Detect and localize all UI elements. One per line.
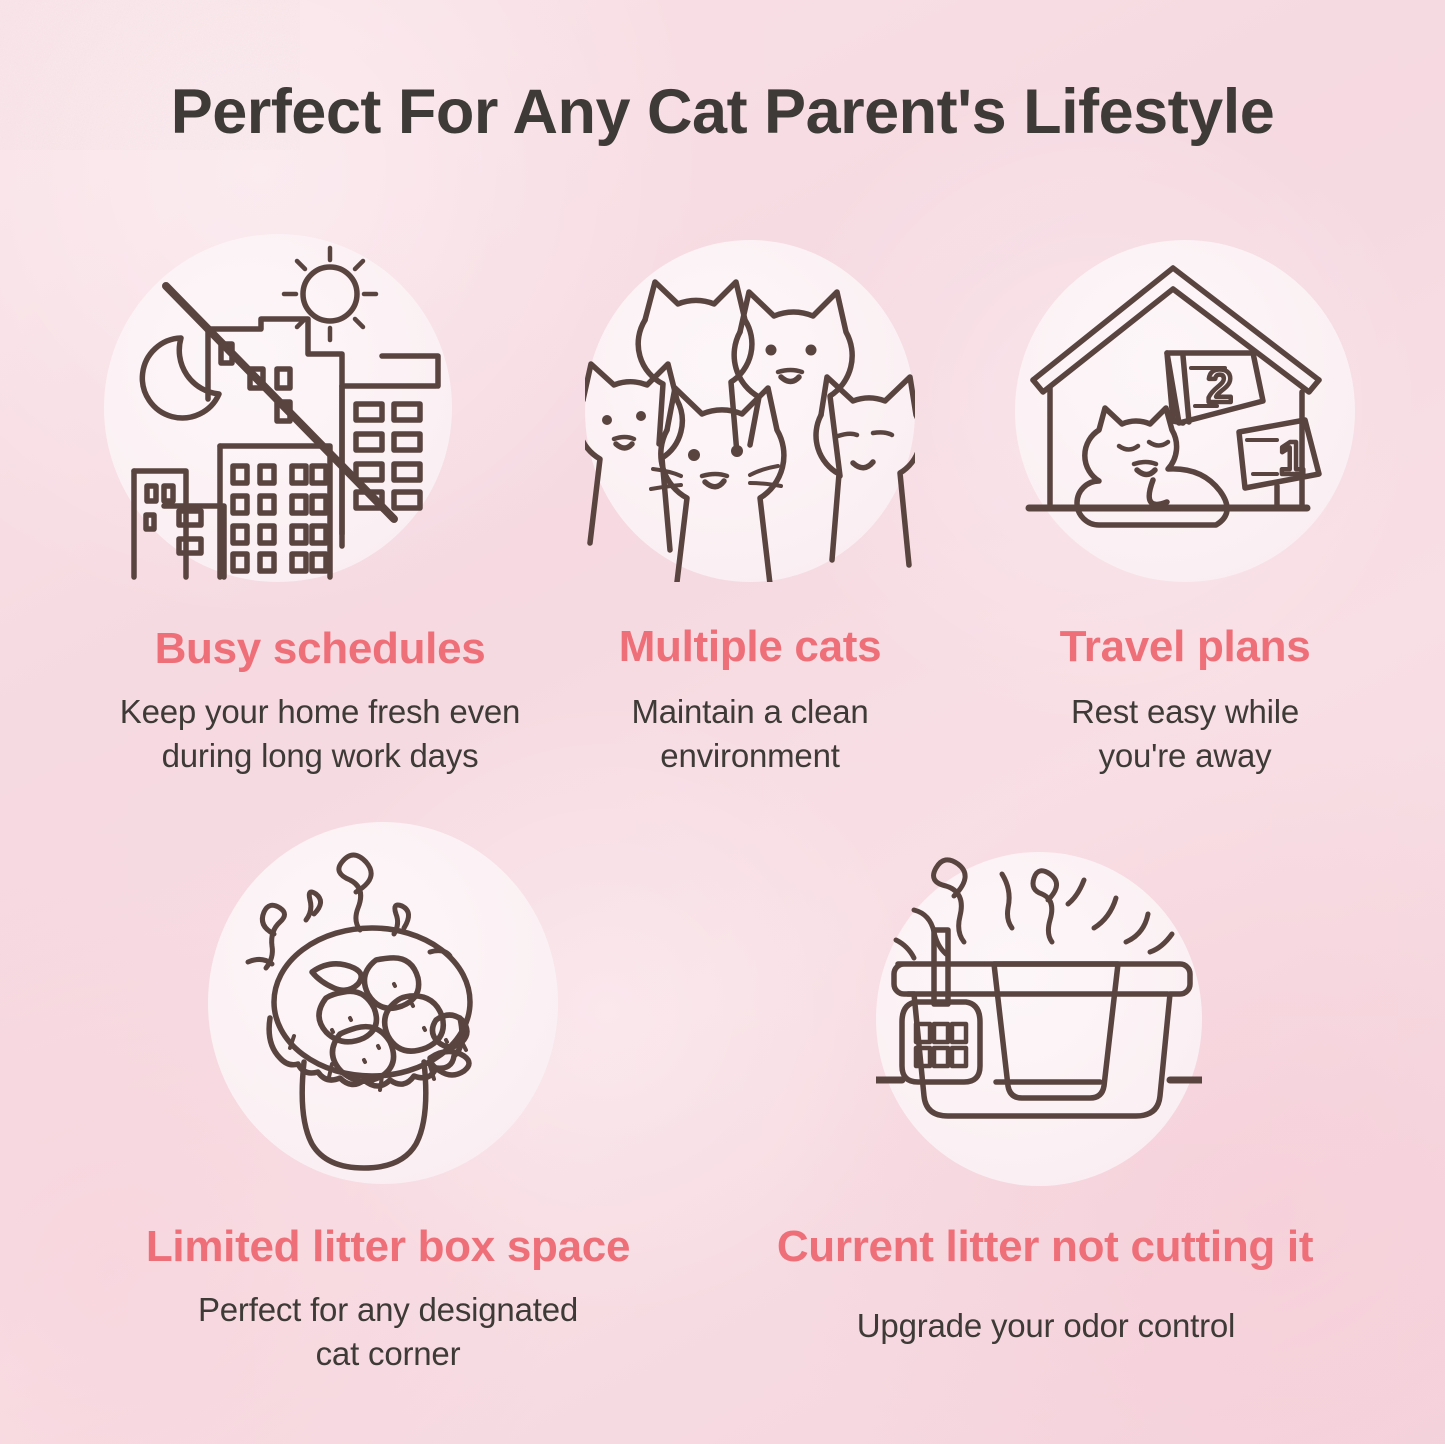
- card-subtext-limited-litter-box-space: Perfect for any designated cat corner: [98, 1288, 678, 1376]
- day-night-cityscape-icon: [104, 234, 452, 582]
- calendar-number-1: 1: [1279, 432, 1305, 484]
- card-subtext-travel-plans: Rest easy while you're away: [1010, 690, 1360, 778]
- card-subtext-line: environment: [540, 734, 960, 778]
- card-heading-travel-plans: Travel plans: [995, 622, 1375, 672]
- card-subtext-line: Perfect for any designated: [98, 1288, 678, 1332]
- card-subtext-line: cat corner: [98, 1332, 678, 1376]
- card-heading-multiple-cats: Multiple cats: [500, 622, 1000, 672]
- litter-pail-with-clumps-icon: [208, 822, 558, 1184]
- card-subtext-line: Maintain a clean: [540, 690, 960, 734]
- card-subtext-line: during long work days: [30, 734, 610, 778]
- card-subtext-busy-schedules: Keep your home fresh even during long wo…: [30, 690, 610, 778]
- card-subtext-current-litter-not-cutting-it: Upgrade your odor control: [752, 1304, 1340, 1348]
- litter-box-with-scoop-icon: [876, 852, 1202, 1186]
- card-heading-current-litter-not-cutting-it: Current litter not cutting it: [722, 1222, 1368, 1272]
- house-with-sleeping-cat-icon: 2 1: [1015, 240, 1355, 582]
- card-subtext-line: Rest easy while: [1010, 690, 1360, 734]
- group-of-cats-icon: [585, 240, 915, 582]
- calendar-number-2: 2: [1207, 360, 1233, 412]
- card-heading-limited-litter-box-space: Limited litter box space: [68, 1222, 708, 1272]
- card-subtext-line: Keep your home fresh even: [30, 690, 610, 734]
- card-subtext-line: Upgrade your odor control: [752, 1304, 1340, 1348]
- card-subtext-multiple-cats: Maintain a clean environment: [540, 690, 960, 778]
- page-title: Perfect For Any Cat Parent's Lifestyle: [0, 76, 1445, 148]
- card-subtext-line: you're away: [1010, 734, 1360, 778]
